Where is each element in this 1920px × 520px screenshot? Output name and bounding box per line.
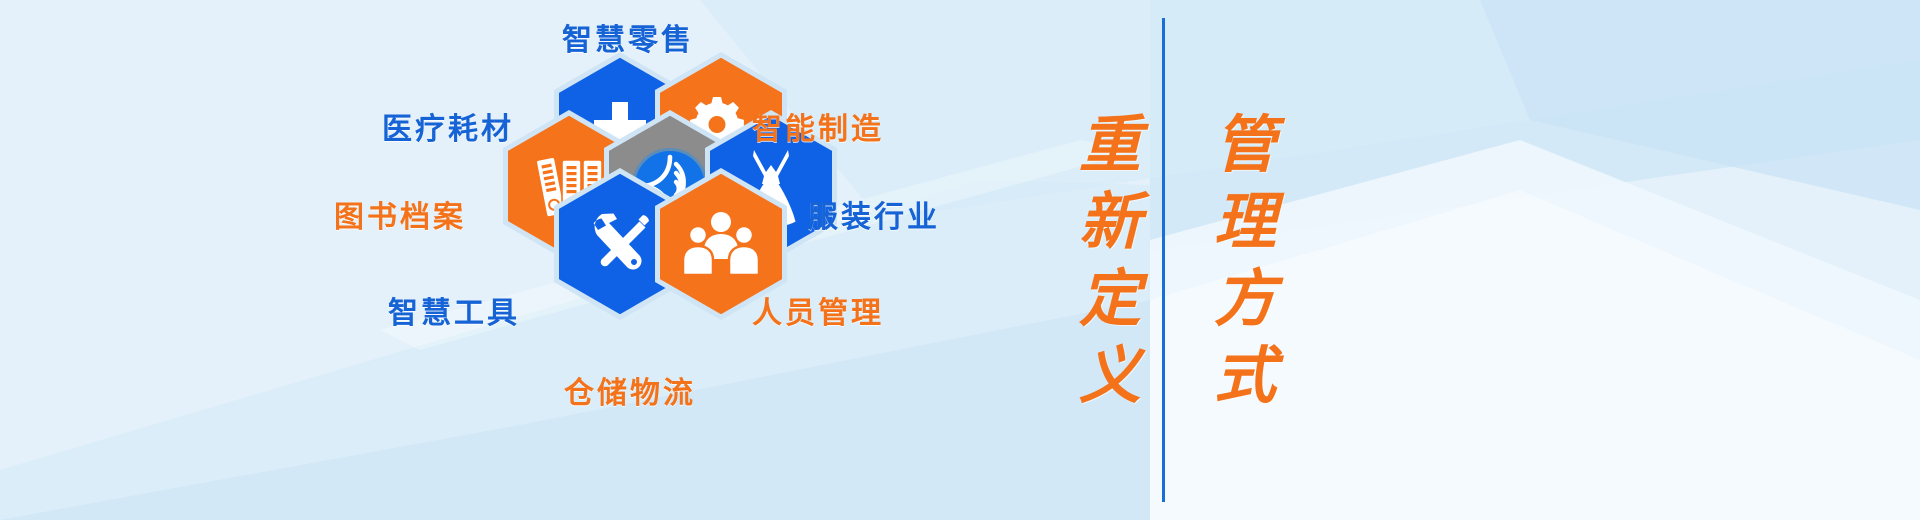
slogan-column-left: 重 新 定 义 [1050,10,1170,510]
slogan-right-char-2: 理 [1214,190,1276,253]
slogan-column-right: 管 理 方 式 [1185,10,1305,510]
label-medical: 医疗耗材 [382,104,514,148]
label-hr: 人员管理 [752,288,884,332]
label-apparel: 服装行业 [808,192,940,236]
slogan-left-char-4: 义 [1079,344,1141,407]
banner-root: 智慧零售 医疗耗材 智能制造 图书档案 服装行业 智慧工具 人员管理 仓储物流 … [0,0,1920,520]
slogan-left-char-3: 定 [1079,267,1141,330]
slogan-right-char-3: 方 [1214,267,1276,330]
slogan-left-char-2: 新 [1079,190,1141,253]
label-logistics: 仓储物流 [564,368,696,412]
slogan-right-char-1: 管 [1214,113,1276,176]
label-tools: 智慧工具 [388,288,520,332]
label-retail: 智慧零售 [562,15,694,59]
slogan-divider [1162,18,1165,502]
wrench-screwdriver-icon [582,206,658,282]
slogan-right-char-4: 式 [1214,344,1276,407]
people-group-icon [681,211,761,277]
background-decoration [0,0,1920,520]
slogan-left-char-1: 重 [1079,113,1141,176]
label-manufacturing: 智能制造 [752,104,884,148]
label-library: 图书档案 [334,192,466,236]
